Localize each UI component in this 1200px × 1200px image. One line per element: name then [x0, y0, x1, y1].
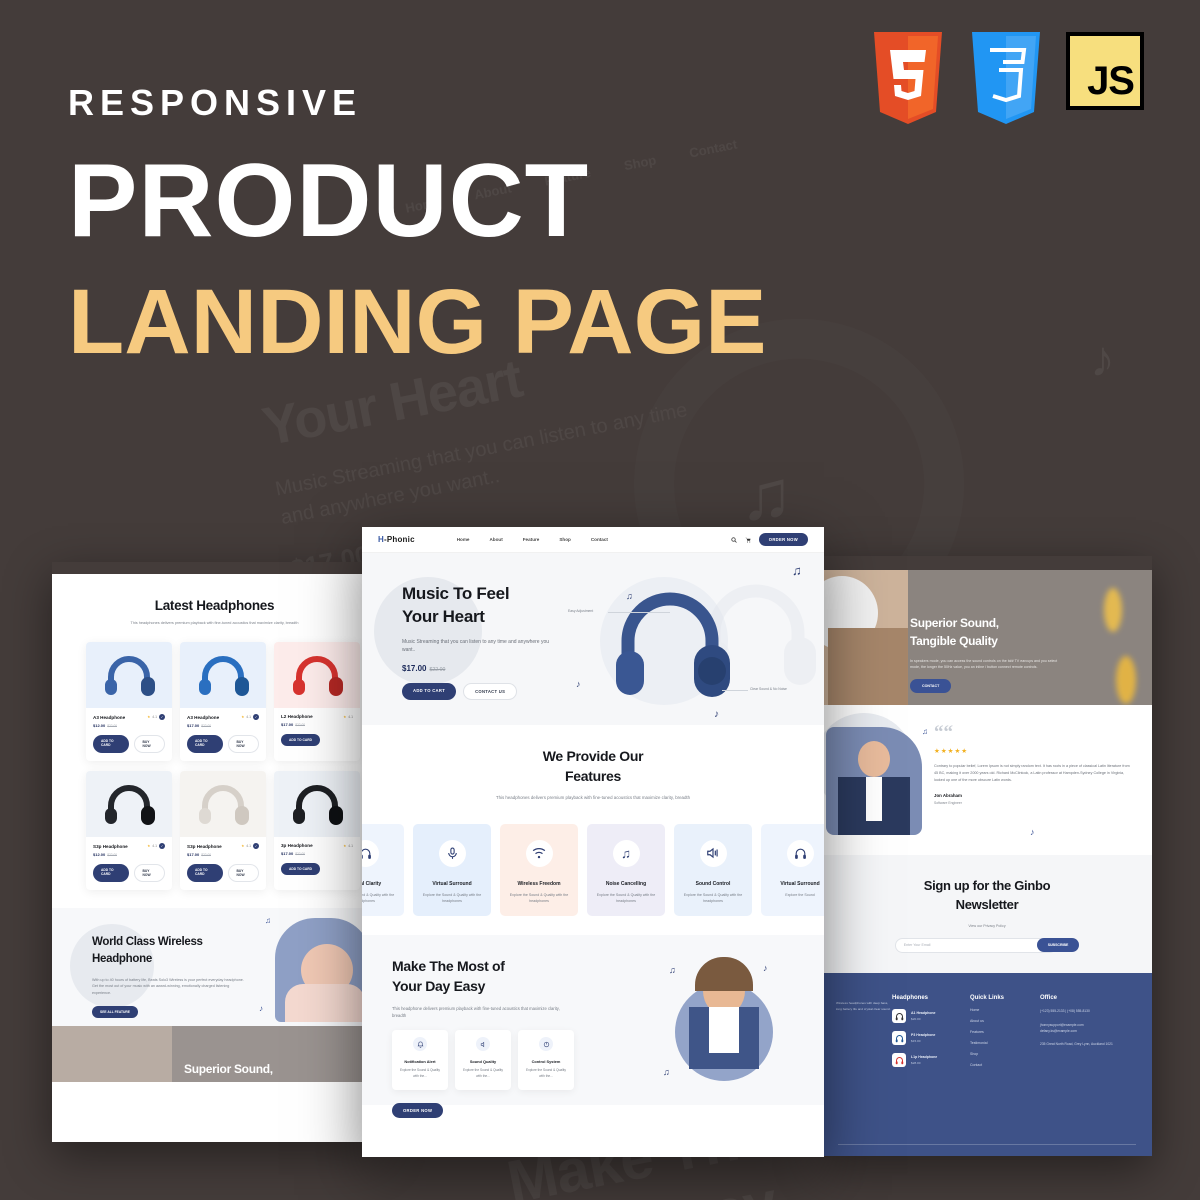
right-hero-paragraph: In speakers mode, you can access the sou… — [910, 658, 1060, 670]
price-current: $17.00 — [187, 852, 199, 857]
product-card[interactable]: L2 Headphone ★4.1 $17.00$22.00 ADD TO CA… — [274, 642, 360, 761]
watermark-paragraph: Music Streaming that you can listen to a… — [273, 396, 696, 533]
feature-title: Sound Control — [696, 881, 731, 887]
footer-product-item[interactable]: A1 Headphone $20.00 — [892, 1009, 970, 1023]
mini-card-title: Notification Alert — [404, 1059, 435, 1064]
footer-product-price: $15.00 — [911, 1039, 935, 1043]
price-current: $12.00 — [93, 723, 105, 728]
feature-card[interactable]: Wireless Freedom Explore the Sound & Qua… — [500, 824, 578, 916]
music-note-icon: ♫ — [626, 591, 633, 601]
product-card[interactable]: A3 Headphone ★4.1✓ $12.00$22.00 ADD TO C… — [86, 642, 172, 761]
music-note-icon: ♪ — [1090, 330, 1115, 388]
subscribe-button[interactable]: SUBSCRIBE — [1037, 938, 1080, 952]
product-rating: ★4.1✓ — [147, 843, 165, 849]
mini-card[interactable]: Notification Alert Explore the Sound & Q… — [392, 1030, 448, 1090]
product-price: $17.00$22.00 — [281, 851, 353, 856]
features-row: Virtual Clarity Explore the Sound & Qual… — [362, 824, 824, 916]
rating-stars: ★★★★★ — [934, 747, 1152, 755]
testimonial-role: Software Engineer — [934, 801, 1152, 805]
product-buttons: ADD TO CARD — [281, 863, 353, 875]
footer-brand-column: Wireless headphones with deep bass, long… — [836, 995, 892, 1067]
add-to-cart-button[interactable]: ADD TO CARD — [93, 735, 129, 753]
right-mockup: Superior Sound, Tangible Quality In spea… — [822, 556, 1152, 1156]
nav-item-contact[interactable]: Contact — [591, 537, 608, 542]
nav-actions: ORDER NOW — [731, 533, 808, 546]
product-info: A3 Headphone ★4.1✓ $17.00$22.00 ADD TO C… — [180, 708, 266, 761]
features-heading-line2: Features — [362, 767, 824, 787]
product-image — [274, 642, 360, 708]
product-grid-row2: S3p Headphone ★4.1✓ $12.00$22.00 ADD TO … — [52, 771, 377, 890]
testimonial-author: Jon Abraham — [934, 793, 1152, 798]
footer-link-shop[interactable]: Shop — [970, 1052, 1040, 1056]
price-old: $22.00 — [201, 853, 211, 857]
email-input[interactable]: Enter Your Email — [895, 938, 1057, 953]
product-rating: ★4.1 — [343, 715, 353, 719]
price-current: $17.00 — [187, 723, 199, 728]
cart-icon[interactable] — [745, 537, 751, 543]
music-note-icon: ♪ — [763, 963, 768, 973]
price-current: $17.00 — [281, 851, 293, 856]
footer-link-home[interactable]: Home — [970, 1008, 1040, 1012]
rating-value: 4.1 — [348, 844, 353, 848]
footer-product-info: L1p Headphone $28.00 — [911, 1055, 937, 1065]
product-grid-row1: A3 Headphone ★4.1✓ $12.00$22.00 ADD TO C… — [52, 642, 377, 761]
product-image — [86, 642, 172, 708]
music-note-icon: ♪ — [576, 679, 581, 689]
superior-sound-text: Superior Sound, — [184, 1062, 273, 1076]
tech-badges: JS — [870, 32, 1142, 124]
price-old: $22.00 — [295, 852, 305, 856]
feature-title: Virtual Clarity — [362, 881, 381, 887]
music-note-icon: ♫ — [922, 727, 928, 736]
poster-kicker: RESPONSIVE — [68, 85, 767, 121]
make-the-most-section: Make The Most of Your Day Easy This head… — [362, 935, 824, 1105]
music-note-icon: ♪ — [259, 1004, 263, 1013]
newsletter-heading: Sign up for the Ginbo Newsletter — [822, 877, 1152, 915]
newsletter-heading-line1: Sign up for the Ginbo — [822, 877, 1152, 896]
product-image — [86, 771, 172, 837]
buy-now-button[interactable]: BUY NOW — [134, 735, 165, 753]
product-card[interactable]: A3 Headphone ★4.1✓ $17.00$22.00 ADD TO C… — [180, 642, 266, 761]
music-note-icon: ♫ — [669, 965, 676, 975]
search-icon[interactable] — [731, 537, 737, 543]
css3-badge — [968, 32, 1044, 124]
product-rating: ★4.1✓ — [241, 714, 259, 720]
headphone-icon — [895, 1012, 904, 1021]
testimonial-section: ““ ★★★★★ Contrary to popular belief, Lor… — [822, 705, 1152, 855]
headphone-thumb-icon — [892, 1031, 906, 1045]
product-title-row: L2 Headphone ★4.1 — [281, 714, 353, 719]
product-card[interactable]: 3p Headphone ★4.1 $17.00$22.00 ADD TO CA… — [274, 771, 360, 890]
footer-link-contact[interactable]: Contact — [970, 1063, 1040, 1067]
leader-line — [722, 690, 748, 691]
buy-now-button[interactable]: BUY NOW — [228, 735, 259, 753]
feature-title: Virtual Surround — [432, 881, 471, 887]
features-heading: We Provide Our Features — [362, 747, 824, 786]
footer-product-name: P3 Headphone — [911, 1033, 935, 1037]
footer-product-name: A1 Headphone — [911, 1011, 936, 1015]
mini-card-desc: Explore the Sound & Quality with the... — [461, 1068, 505, 1078]
product-image — [180, 771, 266, 837]
superior-sound-strip: Superior Sound, — [52, 1026, 377, 1082]
feature-title: Virtual Surround — [780, 881, 819, 887]
footer-headphones-title: Headphones — [892, 995, 970, 1001]
music-note-icon: ♫ — [265, 916, 271, 925]
photo-body — [285, 984, 365, 1022]
sound-icon — [476, 1037, 490, 1051]
most-paragraph: This headphone delivers premium playback… — [392, 1005, 572, 1019]
product-image — [274, 771, 360, 837]
right-mockup-topbar — [822, 556, 1152, 570]
hero-price-current: $17.00 — [402, 664, 426, 673]
price-old: $22.00 — [107, 724, 117, 728]
price-old: $22.00 — [295, 723, 305, 727]
footer-office-email: jhonnysupport@example.com defany.ks@exam… — [1040, 1023, 1140, 1035]
footer-headphones-column: Headphones A1 Headphone $20.00 P3 — [892, 995, 970, 1067]
footer-divider — [838, 1144, 1136, 1145]
rating-value: 4.1 — [348, 715, 353, 719]
footer-product-info: A1 Headphone $20.00 — [911, 1011, 936, 1021]
verified-icon: ✓ — [159, 843, 165, 849]
product-title-row: S3p Headphone ★4.1✓ — [187, 843, 259, 849]
product-buttons: ADD TO CARD BUY NOW — [93, 735, 165, 753]
headphone-icon — [291, 782, 343, 826]
html5-shield-icon — [870, 32, 946, 124]
feature-desc: Explore the Sound — [777, 892, 823, 898]
js-label: JS — [1066, 32, 1144, 110]
wireless-paragraph: With up to 40 hours of battery life, Bea… — [92, 977, 247, 997]
headphone-thumb-icon — [892, 1009, 906, 1023]
music-note-icon: ♫ — [740, 455, 793, 535]
product-info: S3p Headphone ★4.1✓ $12.00$22.00 ADD TO … — [86, 837, 172, 890]
footer-product-item[interactable]: L1p Headphone $28.00 — [892, 1053, 970, 1067]
footer-office-title: Office — [1040, 995, 1140, 1001]
product-info: A3 Headphone ★4.1✓ $12.00$22.00 ADD TO C… — [86, 708, 172, 761]
left-mockup: Latest Headphones This headphones delive… — [52, 562, 377, 1142]
hero-product-visual: Easy Adjustment Clear Sound & No Noise ♫… — [554, 559, 824, 725]
product-card[interactable]: S3p Headphone ★4.1✓ $17.00$22.00 ADD TO … — [180, 771, 266, 890]
testimonial-photo — [826, 727, 922, 835]
css3-shield-icon — [968, 32, 1044, 124]
verified-icon: ✓ — [253, 843, 259, 849]
headphone-icon — [197, 782, 249, 826]
logo[interactable]: H-Phonic — [378, 535, 415, 544]
nav-item-about[interactable]: About — [489, 537, 502, 542]
leader-line — [608, 612, 670, 613]
product-rating: ★4.1 — [343, 844, 353, 848]
left-mockup-topbar — [52, 562, 377, 574]
feature-desc: Explore the Sound & Quality with the hea… — [587, 892, 665, 904]
hero-price-old: $22.00 — [429, 667, 445, 673]
add-to-cart-button[interactable]: ADD TO CART — [402, 683, 456, 700]
footer-product-price: $28.00 — [911, 1061, 937, 1065]
feature-card[interactable]: Virtual Clarity Explore the Sound & Qual… — [362, 824, 404, 916]
product-buttons: ADD TO CARD — [281, 734, 353, 746]
left-mockup-body: Latest Headphones This headphones delive… — [52, 574, 377, 1082]
footer-quicklinks-column: Quick Links Home About us Features Testi… — [970, 995, 1040, 1067]
product-title-row: A3 Headphone ★4.1✓ — [187, 714, 259, 720]
hair-shape — [828, 628, 908, 705]
footer-columns: Wireless headphones with deep bass, long… — [822, 995, 1152, 1067]
footer-office-address: 235 Great North Road, Grey Lynn, Aucklan… — [1040, 1042, 1140, 1048]
product-price: $12.00$22.00 — [93, 723, 165, 728]
feature-desc: Explore the Sound & Quality with the hea… — [500, 892, 578, 904]
price-old: $22.00 — [201, 724, 211, 728]
product-name: 3p Headphone — [281, 843, 313, 848]
features-subtitle: This headphones delivers premium playbac… — [362, 794, 824, 801]
footer-product-info: P3 Headphone $15.00 — [911, 1033, 935, 1043]
html5-badge — [870, 32, 946, 124]
center-mockup: H-Phonic Home About Feature Shop Contact… — [362, 527, 824, 1157]
headphone-icon — [787, 840, 814, 867]
buy-now-button[interactable]: BUY NOW — [228, 864, 259, 882]
photo-top — [709, 1007, 739, 1053]
mini-card-title: Control System — [532, 1059, 561, 1064]
headphone-icon — [606, 583, 734, 709]
add-to-cart-button[interactable]: ADD TO CARD — [281, 863, 320, 875]
headphone-icon — [895, 1034, 904, 1043]
mini-card-desc: Explore the Sound & Quality with the... — [398, 1068, 442, 1078]
hero-paragraph: Music Streaming that you can listen to a… — [402, 638, 552, 654]
product-card[interactable]: S3p Headphone ★4.1✓ $12.00$22.00 ADD TO … — [86, 771, 172, 890]
feature-card[interactable]: Virtual Surround Explore the Sound & Qua… — [413, 824, 491, 916]
product-price: $12.00$22.00 — [93, 852, 165, 857]
mini-card[interactable]: Control System Explore the Sound & Quali… — [518, 1030, 574, 1090]
nav-menu: Home About Feature Shop Contact — [457, 537, 608, 542]
poster-title-block: RESPONSIVE PRODUCT LANDING PAGE — [68, 85, 767, 371]
product-price: $17.00$22.00 — [187, 723, 259, 728]
product-image — [180, 642, 266, 708]
microphone-icon — [439, 840, 466, 867]
footer-product-price: $20.00 — [911, 1017, 936, 1021]
rating-value: 4.1 — [246, 715, 251, 719]
poster-title: PRODUCT — [68, 147, 767, 256]
rating-value: 4.1 — [152, 715, 157, 719]
contact-us-button[interactable]: CONTACT US — [463, 683, 517, 700]
poster-subtitle: LANDING PAGE — [68, 274, 767, 371]
music-note-icon: ♪ — [714, 709, 719, 720]
photo-shirt — [866, 777, 882, 821]
music-note-icon: ♫ — [663, 1067, 670, 1077]
music-note-icon: ♫ — [613, 840, 640, 867]
add-to-cart-button[interactable]: ADD TO CARD — [187, 864, 223, 882]
latest-headphones-heading: Latest Headphones — [52, 598, 377, 613]
headphone-icon — [895, 1056, 904, 1065]
newsletter-section: Sign up for the Ginbo Newsletter View ou… — [822, 855, 1152, 973]
bokeh-light — [1116, 656, 1136, 704]
product-info: L2 Headphone ★4.1 $17.00$22.00 ADD TO CA… — [274, 708, 360, 754]
product-rating: ★4.1✓ — [241, 843, 259, 849]
photo-hair — [695, 957, 753, 991]
privacy-policy-link[interactable]: View our Privacy Policy — [822, 924, 1152, 928]
order-now-button[interactable]: ORDER NOW — [392, 1103, 443, 1118]
superior-photo — [52, 1026, 172, 1082]
wireless-photo — [275, 918, 371, 1022]
hero-photo — [822, 570, 908, 705]
right-hero-section: Superior Sound, Tangible Quality In spea… — [822, 570, 1152, 705]
wifi-icon — [526, 840, 553, 867]
product-title-row: 3p Headphone ★4.1 — [281, 843, 353, 848]
footer-product-name: L1p Headphone — [911, 1055, 937, 1059]
right-hero-heading-line2: Tangible Quality — [910, 632, 1152, 650]
headphone-icon — [362, 840, 379, 867]
nav-item-shop[interactable]: Shop — [559, 537, 570, 542]
most-photo-visual: ♫ ♪ ♫ — [641, 951, 806, 1101]
buy-now-button[interactable]: BUY NOW — [134, 864, 165, 882]
feature-card[interactable]: Virtual Surround Explore the Sound — [761, 824, 824, 916]
product-price: $17.00$22.00 — [187, 852, 259, 857]
footer-quicklinks-title: Quick Links — [970, 995, 1040, 1001]
product-name: A3 Headphone — [93, 715, 125, 720]
mini-card-desc: Explore the Sound & Quality with the... — [524, 1068, 568, 1078]
feature-card[interactable]: Sound Control Explore the Sound & Qualit… — [674, 824, 752, 916]
see-all-feature-button[interactable]: SEE ALL FEATURE — [92, 1006, 138, 1018]
product-title-row: A3 Headphone ★4.1✓ — [93, 714, 165, 720]
feature-desc: Explore the Sound & Quality with the hea… — [674, 892, 752, 904]
footer: Wireless headphones with deep bass, long… — [822, 973, 1152, 1156]
features-section: We Provide Our Features This headphones … — [362, 725, 824, 935]
price-current: $17.00 — [281, 722, 293, 727]
mini-card-title: Sound Quality — [470, 1059, 496, 1064]
product-buttons: ADD TO CARD BUY NOW — [93, 864, 165, 882]
footer-brand-text: Wireless headphones with deep bass, long… — [836, 1001, 892, 1012]
rating-value: 4.1 — [246, 844, 251, 848]
add-to-cart-button[interactable]: ADD TO CARD — [187, 735, 223, 753]
nav-item-home[interactable]: Home — [457, 537, 470, 542]
newsletter-heading-line2: Newsletter — [822, 896, 1152, 915]
product-name: S3p Headphone — [93, 844, 128, 849]
product-info: S3p Headphone ★4.1✓ $17.00$22.00 ADD TO … — [180, 837, 266, 890]
nav-item-feature[interactable]: Feature — [523, 537, 540, 542]
verified-icon: ✓ — [159, 714, 165, 720]
footer-link-features[interactable]: Features — [970, 1030, 1040, 1034]
headphone-icon — [291, 653, 343, 697]
order-now-button[interactable]: ORDER NOW — [759, 533, 808, 546]
product-buttons: ADD TO CARD BUY NOW — [187, 735, 259, 753]
footer-office-column: Office (+123) 555-2133 | (+08) 555-8130 … — [1040, 995, 1140, 1067]
logo-rest: -Phonic — [384, 535, 415, 544]
product-name: S3p Headphone — [187, 844, 222, 849]
contact-button[interactable]: CONTACT — [910, 679, 951, 693]
product-price: $17.00$22.00 — [281, 722, 353, 727]
footer-link-about[interactable]: About us — [970, 1019, 1040, 1023]
features-heading-line1: We Provide Our — [362, 747, 824, 767]
product-name: A3 Headphone — [187, 715, 219, 720]
price-current: $12.00 — [93, 852, 105, 857]
newsletter-form: Enter Your Email SUBSCRIBE — [822, 938, 1152, 953]
headphone-thumb-icon — [892, 1053, 906, 1067]
bokeh-light — [1104, 588, 1122, 632]
headphone-icon — [197, 653, 249, 697]
testimonial-text: Contrary to popular belief, Lorem Ipsum … — [934, 763, 1130, 784]
footer-product-item[interactable]: P3 Headphone $15.00 — [892, 1031, 970, 1045]
label-easy-adjustment: Easy Adjustment — [568, 609, 593, 613]
feature-desc: Explore the Sound & Quality with the hea… — [413, 892, 491, 904]
headphone-icon — [103, 782, 155, 826]
javascript-badge: JS — [1066, 32, 1142, 124]
feature-desc: Explore the Sound & Quality with the hea… — [362, 892, 404, 904]
rating-value: 4.1 — [152, 844, 157, 848]
feature-card[interactable]: ♫ Noise Cancelling Explore the Sound & Q… — [587, 824, 665, 916]
control-icon — [539, 1037, 553, 1051]
product-info: 3p Headphone ★4.1 $17.00$22.00 ADD TO CA… — [274, 837, 360, 883]
product-buttons: ADD TO CARD BUY NOW — [187, 864, 259, 882]
headphone-icon — [103, 653, 155, 697]
label-clear-sound: Clear Sound & No Noise — [750, 687, 787, 691]
mini-card[interactable]: Sound Quality Explore the Sound & Qualit… — [455, 1030, 511, 1090]
verified-icon: ✓ — [253, 714, 259, 720]
feature-title: Wireless Freedom — [517, 881, 560, 887]
price-old: $22.00 — [107, 853, 117, 857]
bell-icon — [413, 1037, 427, 1051]
speaker-icon — [700, 840, 727, 867]
music-note-icon: ♪ — [1030, 827, 1035, 837]
footer-office-phone: (+123) 555-2133 | (+08) 555-8130 — [1040, 1009, 1140, 1015]
add-to-cart-button[interactable]: ADD TO CARD — [93, 864, 129, 882]
music-note-icon: ♫ — [792, 563, 802, 578]
footer-link-testimonial[interactable]: Testimonial — [970, 1041, 1040, 1045]
feature-title: Noise Cancelling — [606, 881, 646, 887]
photo-face — [858, 741, 890, 777]
latest-headphones-subheading: This headphones delivers premium playbac… — [52, 620, 377, 626]
add-to-cart-button[interactable]: ADD TO CARD — [281, 734, 320, 746]
navbar: H-Phonic Home About Feature Shop Contact… — [362, 527, 824, 553]
quote-icon: ““ — [934, 727, 1152, 738]
product-rating: ★4.1✓ — [147, 714, 165, 720]
product-name: L2 Headphone — [281, 714, 313, 719]
product-title-row: S3p Headphone ★4.1✓ — [93, 843, 165, 849]
world-class-wireless-section: World Class Wireless Headphone With up t… — [52, 908, 377, 1026]
hero-section: Music To Feel Your Heart Music Streaming… — [362, 553, 824, 725]
